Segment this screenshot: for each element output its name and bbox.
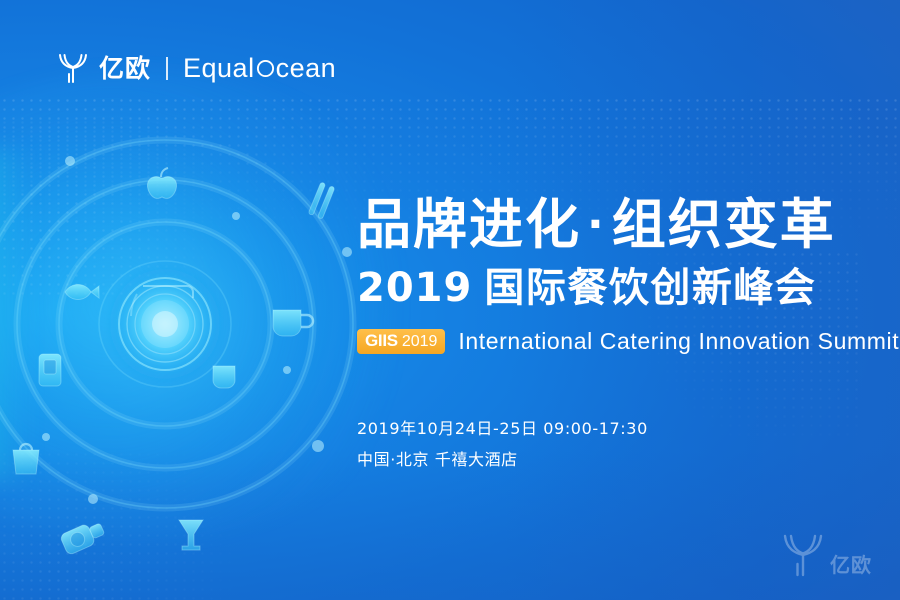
subtitle-year: 2019	[357, 265, 472, 311]
english-title-row: GIIS 2019 International Catering Innovat…	[357, 328, 877, 355]
giis-badge-year: 2019	[402, 334, 438, 350]
page-title: 品牌进化·组织变革	[357, 196, 877, 254]
subtitle: 2019国际餐饮创新峰会	[357, 266, 877, 310]
subtitle-text: 国际餐饮创新峰会	[484, 265, 816, 311]
event-venue: 中国·北京 千禧大酒店	[357, 444, 648, 475]
brand-name-en: Equal cean	[183, 55, 336, 82]
event-poster: 亿欧 Equal cean 品牌进化·组织变革 2019国际餐饮创新峰会 GII…	[0, 0, 900, 600]
giis-badge: GIIS 2019	[357, 329, 445, 354]
headline-separator: ·	[581, 201, 612, 249]
giis-badge-label: GIIS	[365, 332, 398, 349]
brand-name-en-prefix: Equal	[183, 55, 255, 82]
brand-name-cn: 亿欧	[99, 56, 151, 81]
brand-name-en-suffix: cean	[276, 55, 337, 82]
open-circle-o-icon	[256, 59, 275, 78]
brand-logo[interactable]: 亿欧 Equal cean	[58, 48, 336, 88]
event-datetime: 2019年10月24日-25日 09:00-17:30	[357, 413, 648, 444]
watermark-name-cn: 亿欧	[830, 555, 872, 578]
event-details: 2019年10月24日-25日 09:00-17:30 中国·北京 千禧大酒店	[357, 413, 648, 475]
orbiting-food-icons-rings	[0, 124, 415, 524]
mobile-payment-icon	[39, 354, 61, 386]
brand-separator	[166, 57, 168, 80]
headline-block: 品牌进化·组织变革 2019国际餐饮创新峰会 GIIS 2019 Interna…	[357, 196, 877, 355]
equalocean-y-mark-icon	[782, 532, 824, 578]
watermark-logo: 亿欧	[782, 532, 872, 578]
headline-part-1: 品牌进化	[357, 193, 581, 256]
headline-part-2: 组织变革	[612, 193, 836, 256]
glowing-core-icon	[105, 264, 225, 384]
english-title: International Catering Innovation Summit	[458, 328, 899, 355]
coffee-cup-icon	[213, 366, 235, 388]
equalocean-y-mark-icon	[58, 52, 88, 84]
